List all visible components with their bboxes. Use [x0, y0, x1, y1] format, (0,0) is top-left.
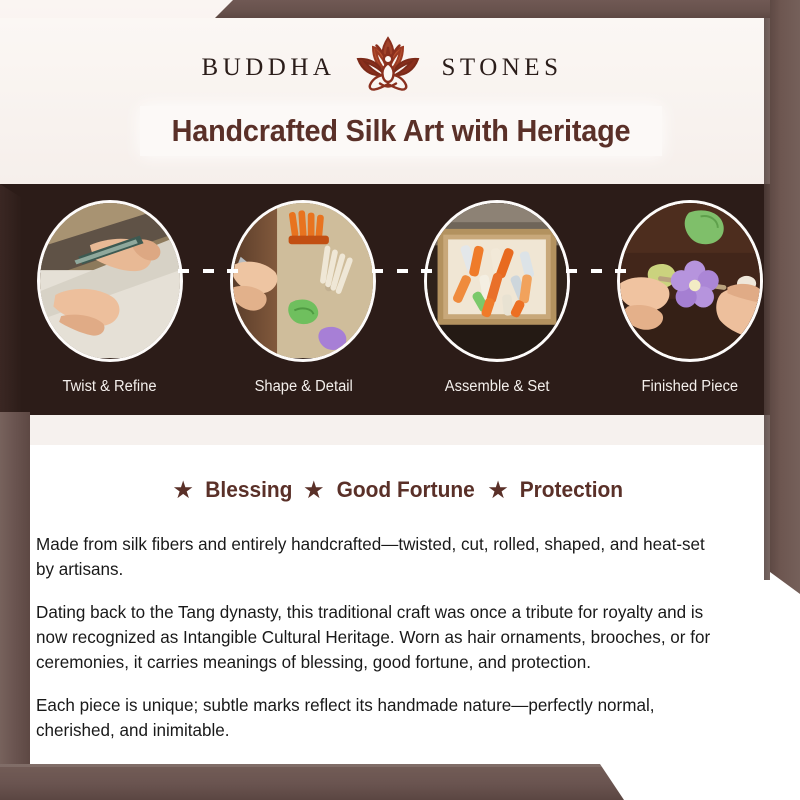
star-icon: ★	[489, 480, 508, 501]
frame-right-inner-shadow	[764, 0, 770, 580]
description-paragraph: Each piece is unique; subtle marks refle…	[36, 693, 727, 743]
process-steps-section: Twist & Refine	[0, 184, 800, 415]
step-photo-assemble-set	[424, 200, 570, 362]
benefit-label-good-fortune: Good Fortune	[337, 477, 475, 503]
page-title: Handcrafted Silk Art with Heritage	[158, 106, 643, 156]
content-divider	[30, 415, 764, 445]
step-photo-shape-detail	[230, 200, 376, 362]
dashed-line-connector-icon	[566, 269, 626, 273]
header-section: BUDDHA	[0, 0, 800, 184]
frame-bar-right	[770, 0, 800, 594]
description-paragraphs: Made from silk fibers and entirely handc…	[36, 532, 748, 743]
product-infographic: BUDDHA	[0, 0, 800, 800]
description-paragraph: Made from silk fibers and entirely handc…	[36, 532, 727, 582]
page-title-band: Handcrafted Silk Art with Heritage	[140, 106, 662, 156]
process-step: Finished Piece	[610, 200, 770, 396]
step-caption: Shape & Detail	[254, 378, 352, 396]
dashed-line-connector-icon	[372, 269, 432, 273]
frame-bar-left	[0, 412, 30, 800]
process-step: Shape & Detail	[223, 200, 383, 396]
step-caption: Assemble & Set	[444, 378, 549, 396]
step-photo-finished-piece	[617, 200, 763, 362]
process-step: Assemble & Set	[417, 200, 577, 396]
star-icon: ★	[174, 480, 193, 501]
step-caption: Twist & Refine	[63, 378, 157, 396]
dashed-line-connector-icon	[178, 269, 238, 273]
benefits-row: ★ Blessing ★ Good Fortune ★ Protection	[30, 477, 770, 503]
star-icon: ★	[304, 480, 323, 501]
step-caption: Finished Piece	[642, 378, 739, 396]
benefit-label-protection: Protection	[520, 477, 623, 503]
brand-word-right: STONES	[441, 55, 562, 80]
benefit-label-blessing: Blessing	[205, 477, 292, 503]
brand-logo: BUDDHA	[0, 34, 764, 101]
process-step: Twist & Refine	[30, 200, 190, 396]
description-section: ★ Blessing ★ Good Fortune ★ Protection M…	[0, 415, 800, 800]
process-steps-list: Twist & Refine	[30, 200, 770, 415]
lotus-meditation-logo-icon	[351, 34, 425, 101]
step-photo-twist-refine	[37, 200, 183, 362]
description-paragraph: Dating back to the Tang dynasty, this tr…	[36, 600, 727, 675]
brand-word-left: BUDDHA	[202, 55, 336, 80]
